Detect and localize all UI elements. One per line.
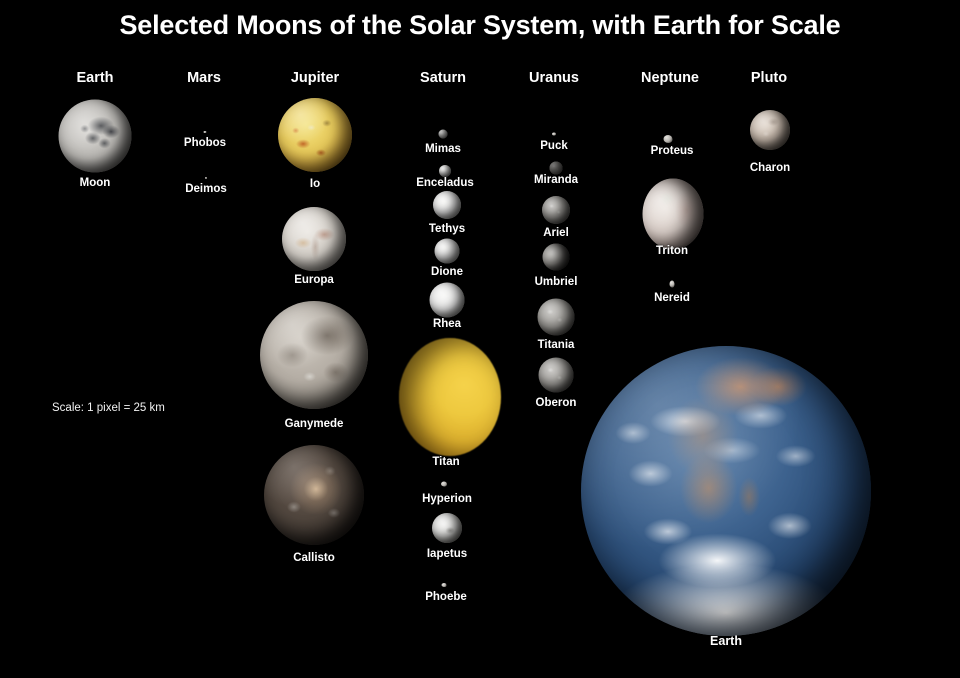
moon-body-rhea [430,283,465,318]
moon-body-dione [435,239,460,264]
moon-label-titan: Titan [432,456,459,468]
planet-label-earth: Earth [710,634,742,648]
scale-note: Scale: 1 pixel = 25 km [52,402,165,414]
moon-label-miranda: Miranda [534,174,578,186]
moon-body-proteus [664,135,673,143]
moon-body-umbriel [543,244,570,271]
column-heading-pluto: Pluto [751,70,787,86]
moon-label-iapetus: Iapetus [427,548,467,560]
moon-label-ariel: Ariel [543,227,569,239]
planet-body-earth [581,346,871,636]
moon-label-dione: Dione [431,266,463,278]
moon-label-callisto: Callisto [293,552,335,564]
moon-body-charon [750,110,790,150]
moon-label-charon: Charon [750,162,790,174]
moon-body-phobos [204,131,207,133]
moon-body-titania [538,299,575,336]
moon-body-ariel [542,196,570,224]
moon-body-puck [552,133,556,136]
moon-body-triton [643,179,704,250]
column-heading-jupiter: Jupiter [291,70,339,86]
moon-body-ganymede [260,301,368,409]
moon-body-oberon [539,358,574,393]
moon-body-io [278,98,352,172]
column-heading-earth: Earth [76,70,113,86]
moon-body-hyperion [441,482,447,487]
moon-label-enceladus: Enceladus [416,177,474,189]
moon-body-deimos [205,177,207,179]
moon-label-titania: Titania [538,339,575,351]
column-heading-neptune: Neptune [641,70,699,86]
column-heading-uranus: Uranus [529,70,579,86]
moon-label-hyperion: Hyperion [422,493,472,505]
moon-body-nereid [670,281,675,288]
moon-body-europa [282,207,346,271]
moon-body-titan [399,338,501,456]
moon-label-oberon: Oberon [536,397,577,409]
moon-label-europa: Europa [294,274,334,286]
moon-label-tethys: Tethys [429,223,465,235]
moon-body-callisto [264,445,364,545]
column-heading-saturn: Saturn [420,70,466,86]
page-title: Selected Moons of the Solar System, with… [0,10,960,41]
moon-body-phoebe [442,583,447,587]
moon-body-tethys [433,191,461,219]
moon-label-triton: Triton [656,245,688,257]
moon-label-phoebe: Phoebe [425,591,467,603]
moon-label-proteus: Proteus [651,145,694,157]
moon-label-mimas: Mimas [425,143,461,155]
moon-label-luna: Moon [80,177,111,189]
moon-body-luna [59,100,132,173]
moon-label-phobos: Phobos [184,137,226,149]
moon-label-io: Io [310,178,320,190]
moon-body-iapetus [432,513,462,543]
column-heading-mars: Mars [187,70,221,86]
moon-label-ganymede: Ganymede [285,418,344,430]
moon-body-miranda [550,162,563,175]
moon-label-deimos: Deimos [185,183,227,195]
moon-label-puck: Puck [540,140,568,152]
moon-label-nereid: Nereid [654,292,690,304]
moon-label-rhea: Rhea [433,318,461,330]
poster-canvas: Selected Moons of the Solar System, with… [0,0,960,678]
moon-body-mimas [439,130,448,139]
moon-body-enceladus [439,165,451,177]
moon-label-umbriel: Umbriel [535,276,578,288]
